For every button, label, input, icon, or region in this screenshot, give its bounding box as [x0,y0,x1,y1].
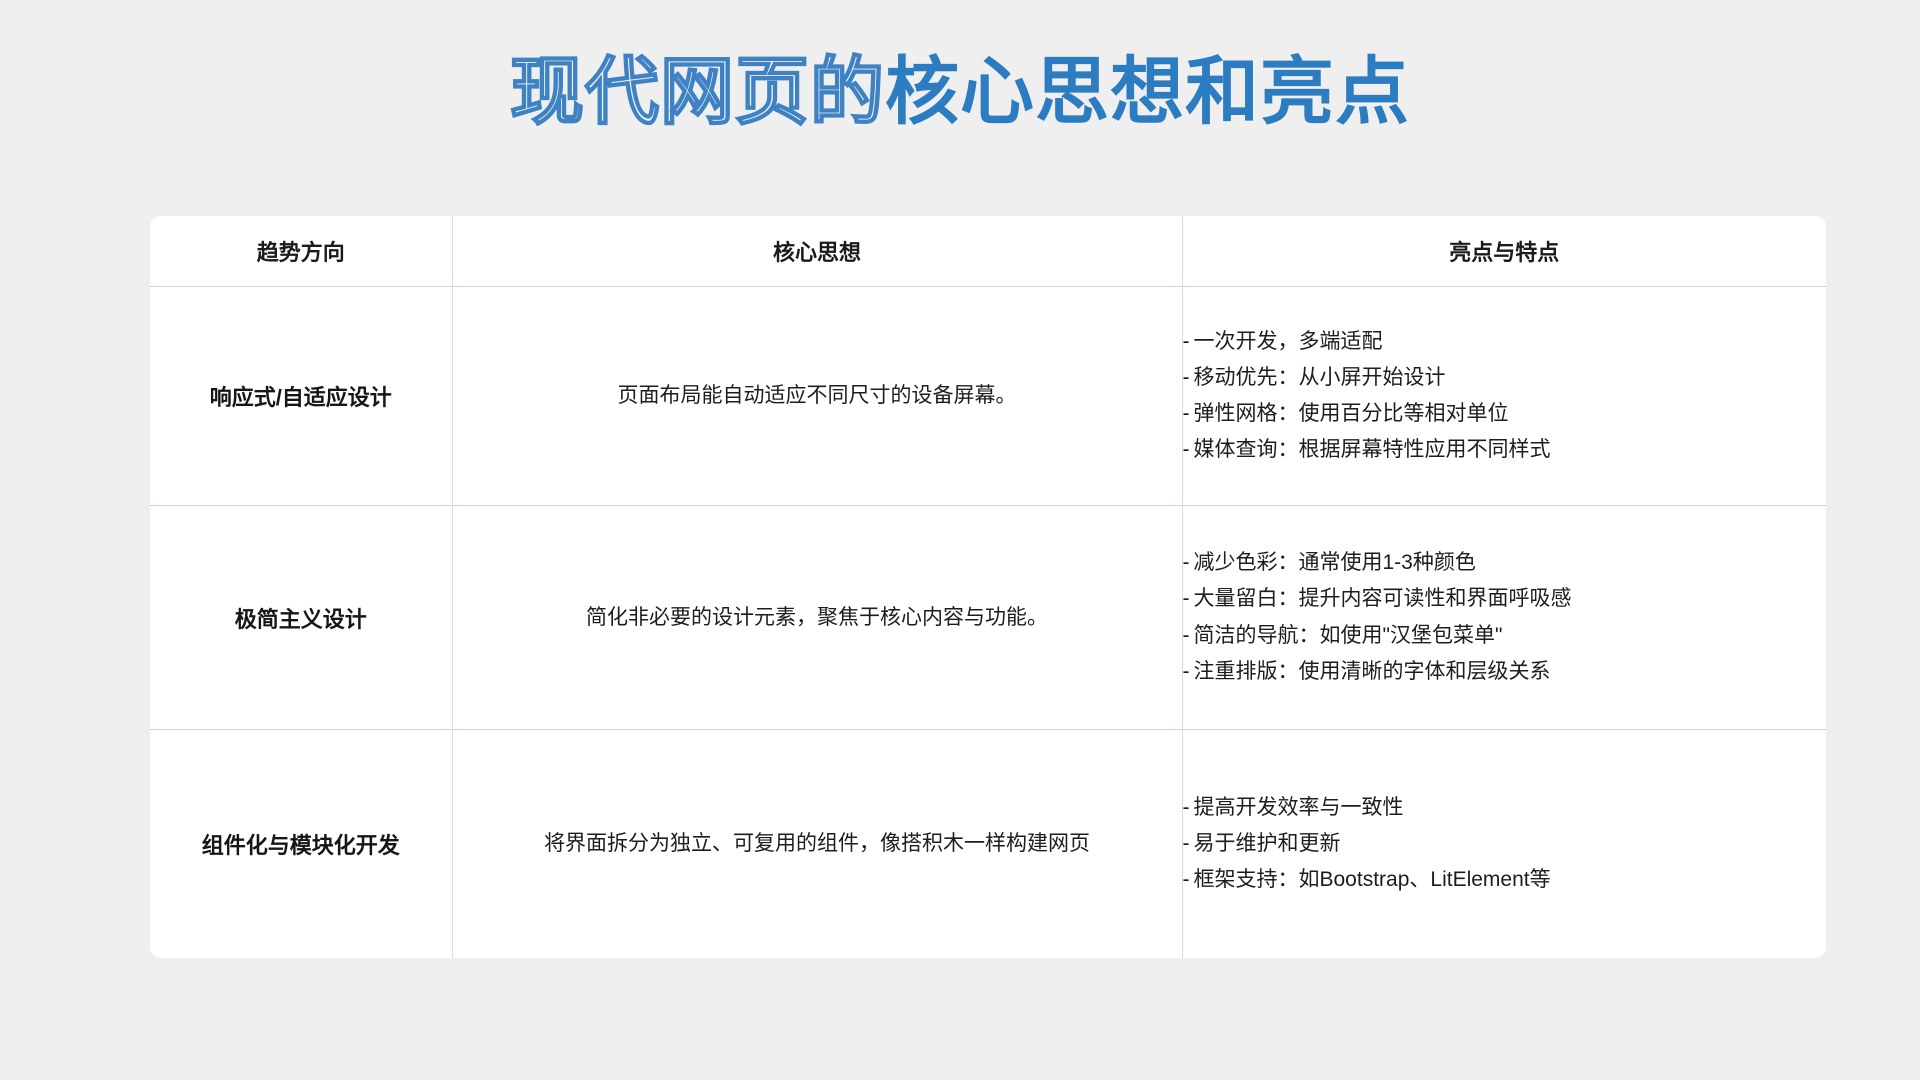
list-item-label: 减少色彩：通常使用1-3种颜色 [1194,551,1476,574]
list-item: -一次开发，多端适配 [1183,324,1827,360]
table-row: 响应式/自适应设计 页面布局能自动适应不同尺寸的设备屏幕。 -一次开发，多端适配… [150,287,1826,506]
list-item: -大量留白：提升内容可读性和界面呼吸感 [1183,581,1827,617]
list-item-label: 框架支持：如Bootstrap、LitElement等 [1194,868,1551,891]
bullet-dash-icon: - [1183,360,1190,396]
highlight-list: -一次开发，多端适配 -移动优先：从小屏开始设计 -弹性网格：使用百分比等相对单… [1183,324,1827,468]
list-item: -框架支持：如Bootstrap、LitElement等 [1183,862,1827,898]
page-title: 现代网页的核心思想和亮点 [0,46,1920,139]
bullet-dash-icon: - [1183,545,1190,581]
column-header-trend: 趋势方向 [150,216,452,287]
list-item-label: 媒体查询：根据屏幕特性应用不同样式 [1194,438,1551,461]
list-item-label: 注重排版：使用清晰的字体和层级关系 [1194,660,1551,683]
table-header-row: 趋势方向 核心思想 亮点与特点 [150,216,1826,287]
list-item-label: 弹性网格：使用百分比等相对单位 [1194,402,1509,425]
list-item-label: 简洁的导航：如使用"汉堡包菜单" [1194,624,1503,647]
list-item-label: 易于维护和更新 [1194,832,1341,855]
list-item-label: 移动优先：从小屏开始设计 [1194,366,1446,389]
list-item: -媒体查询：根据屏幕特性应用不同样式 [1183,432,1827,468]
bullet-dash-icon: - [1183,654,1190,690]
trends-table-card: 趋势方向 核心思想 亮点与特点 响应式/自适应设计 页面布局能自动适应不同尺寸的… [150,216,1826,958]
column-header-highlights: 亮点与特点 [1182,216,1826,287]
highlight-list: -减少色彩：通常使用1-3种颜色 -大量留白：提升内容可读性和界面呼吸感 -简洁… [1183,545,1827,689]
bullet-dash-icon: - [1183,432,1190,468]
bullet-dash-icon: - [1183,826,1190,862]
list-item-label: 提高开发效率与一致性 [1194,796,1404,819]
trends-table: 趋势方向 核心思想 亮点与特点 响应式/自适应设计 页面布局能自动适应不同尺寸的… [150,216,1826,958]
bullet-dash-icon: - [1183,862,1190,898]
bullet-dash-icon: - [1183,324,1190,360]
highlight-list: -提高开发效率与一致性 -易于维护和更新 -框架支持：如Bootstrap、Li… [1183,790,1827,898]
cell-trend: 组件化与模块化开发 [150,730,452,959]
bullet-dash-icon: - [1183,790,1190,826]
cell-idea: 页面布局能自动适应不同尺寸的设备屏幕。 [452,287,1182,506]
cell-trend: 极简主义设计 [150,506,452,730]
page-title-solid-text: 核心思想和亮点 [885,50,1410,133]
list-item: -易于维护和更新 [1183,826,1827,862]
bullet-dash-icon: - [1183,581,1190,617]
list-item: -注重排版：使用清晰的字体和层级关系 [1183,654,1827,690]
list-item-label: 大量留白：提升内容可读性和界面呼吸感 [1194,587,1572,610]
list-item: -弹性网格：使用百分比等相对单位 [1183,396,1827,432]
table-row: 极简主义设计 简化非必要的设计元素，聚焦于核心内容与功能。 -减少色彩：通常使用… [150,506,1826,730]
cell-highlights: -提高开发效率与一致性 -易于维护和更新 -框架支持：如Bootstrap、Li… [1182,730,1826,959]
list-item-label: 一次开发，多端适配 [1194,330,1383,353]
list-item: -减少色彩：通常使用1-3种颜色 [1183,545,1827,581]
list-item: -简洁的导航：如使用"汉堡包菜单" [1183,618,1827,654]
cell-highlights: -减少色彩：通常使用1-3种颜色 -大量留白：提升内容可读性和界面呼吸感 -简洁… [1182,506,1826,730]
table-header: 趋势方向 核心思想 亮点与特点 [150,216,1826,287]
column-header-idea: 核心思想 [452,216,1182,287]
cell-idea: 简化非必要的设计元素，聚焦于核心内容与功能。 [452,506,1182,730]
list-item: -移动优先：从小屏开始设计 [1183,360,1827,396]
list-item: -提高开发效率与一致性 [1183,790,1827,826]
cell-trend: 响应式/自适应设计 [150,287,452,506]
table-row: 组件化与模块化开发 将界面拆分为独立、可复用的组件，像搭积木一样构建网页 -提高… [150,730,1826,959]
bullet-dash-icon: - [1183,618,1190,654]
cell-highlights: -一次开发，多端适配 -移动优先：从小屏开始设计 -弹性网格：使用百分比等相对单… [1182,287,1826,506]
cell-idea: 将界面拆分为独立、可复用的组件，像搭积木一样构建网页 [452,730,1182,959]
table-body: 响应式/自适应设计 页面布局能自动适应不同尺寸的设备屏幕。 -一次开发，多端适配… [150,287,1826,959]
bullet-dash-icon: - [1183,396,1190,432]
page-title-outline-text: 现代网页的 [510,50,885,133]
